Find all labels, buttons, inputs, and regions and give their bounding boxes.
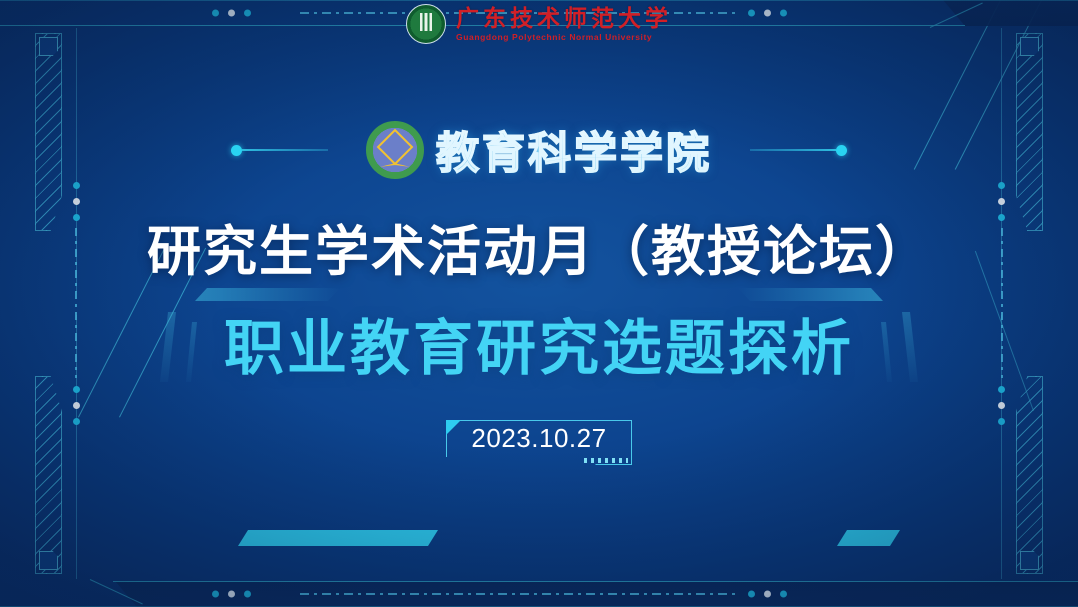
top-strip-outer-line <box>0 0 1078 1</box>
university-logo: 广东技术师范大学 Guangdong Polytechnic Normal Un… <box>406 4 672 44</box>
university-name-block: 广东技术师范大学 Guangdong Polytechnic Normal Un… <box>456 7 672 42</box>
dot-cyan <box>998 418 1005 425</box>
decoration-dot <box>836 145 847 156</box>
dot-white <box>998 402 1005 409</box>
right-rail-dots-lower <box>997 386 1006 425</box>
hatch-bar-cap-icon <box>1020 551 1039 570</box>
college-seal-icon <box>366 121 424 179</box>
main-title: 研究生学术活动月（教授论坛） <box>0 207 1078 286</box>
hatch-bar-bottom-left <box>35 376 62 574</box>
decoration-line <box>750 149 836 151</box>
dot-white <box>764 10 771 17</box>
dot-white <box>73 402 80 409</box>
dot-white <box>228 591 235 598</box>
college-header-row: 教育科学学院 <box>0 119 1078 181</box>
dot-line-decoration-icon <box>231 145 328 156</box>
dot-white <box>764 591 771 598</box>
dot-cyan <box>748 10 755 17</box>
seal-diamond-icon <box>377 128 414 165</box>
hatch-bar-cap-icon <box>39 551 58 570</box>
left-rail-dots-lower <box>72 386 81 425</box>
dot-cyan <box>780 591 787 598</box>
bottom-strip-edge-line <box>113 581 1078 582</box>
hatch-bar-cap-icon <box>1020 37 1039 56</box>
subtitle: 职业教育研究选题探析 <box>0 300 1078 387</box>
university-seal-icon <box>406 4 446 44</box>
dot-cyan <box>780 10 787 17</box>
date-plate: 2023.10.27 <box>446 420 632 465</box>
decoration-dot <box>231 145 242 156</box>
dot-cyan <box>212 591 219 598</box>
university-name-en: Guangdong Polytechnic Normal University <box>456 33 672 42</box>
accent-parallelogram-bottom-right <box>837 530 900 546</box>
dot-cyan <box>244 591 251 598</box>
bottom-strip-dots-right <box>748 591 787 598</box>
top-strip-dots-right <box>748 10 787 17</box>
dot-cyan <box>73 386 80 393</box>
dot-cyan <box>212 10 219 17</box>
tick-marks-icon <box>584 458 628 463</box>
bottom-banner-strip <box>0 581 1078 607</box>
dot-white <box>73 198 80 205</box>
dot-cyan <box>73 182 80 189</box>
top-strip-dots-left <box>212 10 251 17</box>
dot-cyan <box>998 386 1005 393</box>
dot-cyan <box>73 418 80 425</box>
decoration-line <box>242 149 328 151</box>
college-name: 教育科学学院 <box>436 119 712 181</box>
dot-cyan <box>748 591 755 598</box>
date-value: 2023.10.27 <box>446 423 632 454</box>
dot-white <box>998 198 1005 205</box>
dot-white <box>228 10 235 17</box>
presentation-slide: 广东技术师范大学 Guangdong Polytechnic Normal Un… <box>0 0 1078 607</box>
accent-parallelogram-bottom-left <box>238 530 438 546</box>
hatch-bar-cap-icon <box>39 37 58 56</box>
bottom-strip-dashed-line <box>300 593 740 595</box>
dot-cyan <box>244 10 251 17</box>
line-dot-decoration-icon <box>750 145 847 156</box>
dot-cyan <box>998 182 1005 189</box>
bottom-strip-dots-left <box>212 591 251 598</box>
university-name-cn: 广东技术师范大学 <box>456 7 672 30</box>
hatch-bar-bottom-right <box>1016 376 1043 574</box>
